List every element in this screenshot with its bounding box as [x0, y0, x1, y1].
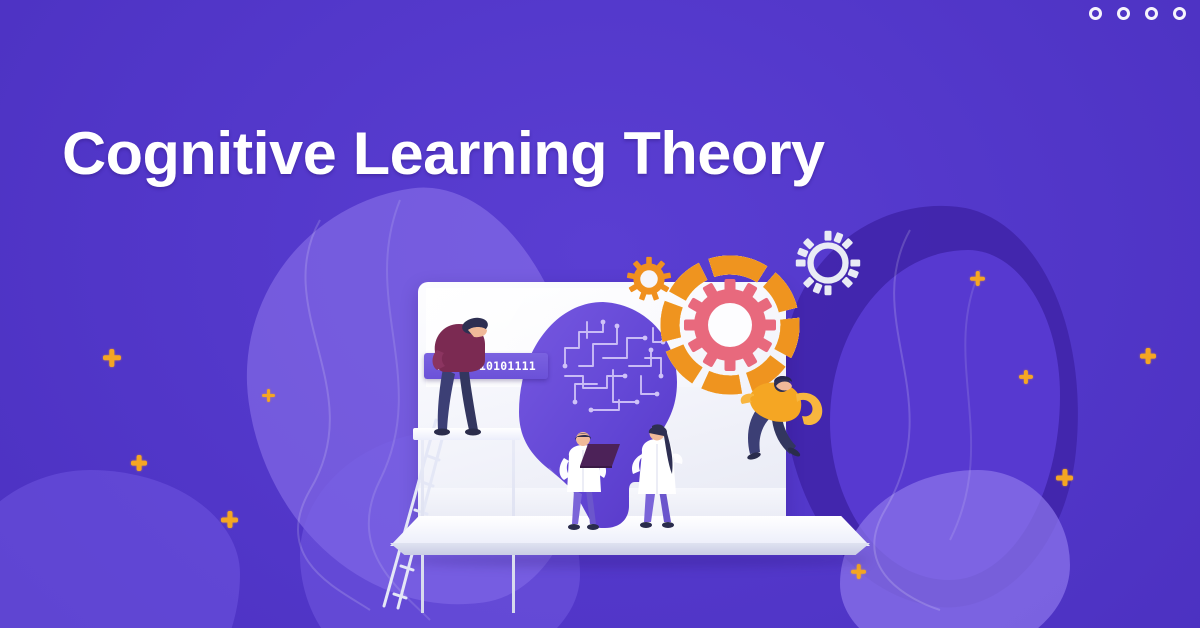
dot-row	[1089, 7, 1186, 20]
brain-circuit-icon	[557, 314, 669, 419]
gear-icon	[626, 256, 672, 302]
circle-outline-icon	[1089, 7, 1102, 20]
person-in-orange-top	[742, 376, 834, 472]
plus-decoration-icon	[1140, 348, 1156, 364]
ladder-icon	[378, 418, 448, 608]
laptop-base-front	[390, 543, 870, 555]
page-title: Cognitive Learning Theory	[62, 122, 825, 185]
plus-decoration-icon	[221, 511, 238, 528]
circle-outline-icon	[1117, 7, 1130, 20]
handheld-laptop-icon	[578, 442, 622, 468]
circle-outline-icon	[1173, 7, 1186, 20]
hero-banner: 00110110101111	[0, 0, 1200, 628]
person-holding-binary-banner	[425, 316, 499, 436]
plus-decoration-icon	[103, 349, 121, 367]
gear-icon	[684, 279, 776, 371]
person-in-lab-coat	[626, 424, 686, 536]
background-blob-bottom-left	[0, 470, 240, 628]
circle-outline-icon	[1145, 7, 1158, 20]
plus-decoration-icon	[131, 455, 147, 471]
